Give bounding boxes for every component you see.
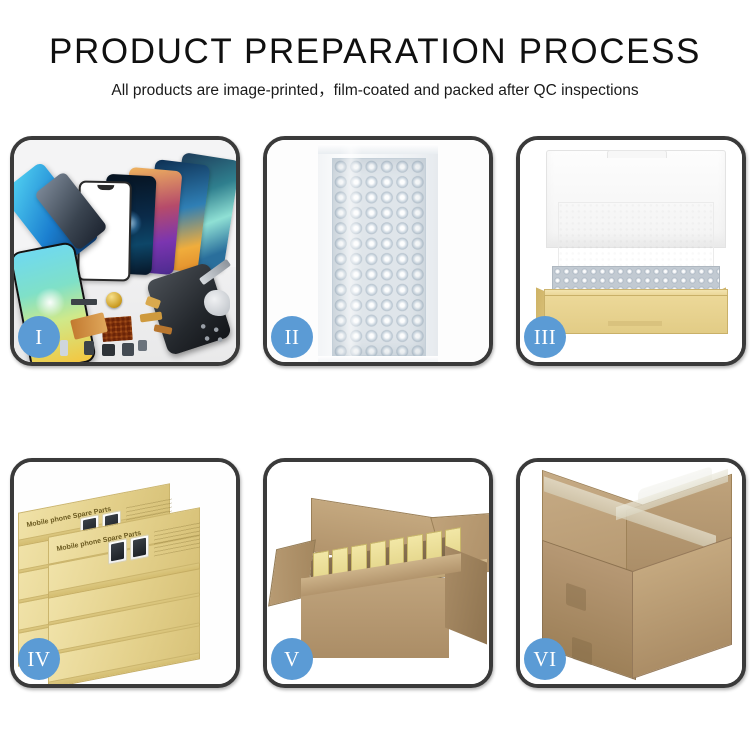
- foam-sheet: [558, 202, 714, 274]
- step-badge-6: VI: [524, 638, 566, 680]
- pouch-seal-bottom: [318, 356, 438, 362]
- step-panel-5[interactable]: V: [263, 458, 493, 688]
- screws-group: [198, 322, 224, 344]
- step-panel-4[interactable]: Mobile phone Spare Parts: [10, 458, 240, 688]
- stacked-box-fr-2: [48, 610, 198, 632]
- process-steps-grid: I II: [10, 136, 740, 688]
- small-part-3: [84, 341, 94, 355]
- page-subtitle: All products are image-printed，film-coat…: [0, 79, 750, 103]
- step-panel-3[interactable]: III: [516, 136, 746, 366]
- pouch-highlight: [340, 144, 362, 362]
- step-panel-1[interactable]: I: [10, 136, 240, 366]
- step-badge-4: IV: [18, 638, 60, 680]
- mailer-tuck-tab: [608, 321, 662, 326]
- small-part-7: [60, 340, 68, 356]
- stacked-box-fr-3: [48, 640, 198, 662]
- step-badge-1: I: [18, 316, 60, 358]
- mailer-front-panel: [544, 295, 728, 334]
- polishing-cloth: [204, 290, 230, 316]
- small-part-4: [102, 344, 115, 356]
- box-lid-phone-image-4: [130, 534, 149, 561]
- header: PRODUCT PREPARATION PROCESS All products…: [0, 0, 750, 103]
- step-badge-5: V: [271, 638, 313, 680]
- step-panel-2[interactable]: II: [263, 136, 493, 366]
- speaker-part-icon: [106, 292, 122, 308]
- product-preparation-process-page: PRODUCT PREPARATION PROCESS All products…: [0, 0, 750, 750]
- small-part-5: [122, 343, 134, 356]
- box-lid-phone-image-3: [108, 538, 127, 565]
- step-badge-3: III: [524, 316, 566, 358]
- pouch-seal-top: [318, 144, 438, 154]
- earpiece-part: [71, 299, 97, 305]
- small-part-6: [138, 340, 147, 351]
- page-title: PRODUCT PREPARATION PROCESS: [0, 30, 750, 74]
- bubble-wrap-pouch: [318, 144, 438, 362]
- step-panel-6[interactable]: VI: [516, 458, 746, 688]
- step-badge-2: II: [271, 316, 313, 358]
